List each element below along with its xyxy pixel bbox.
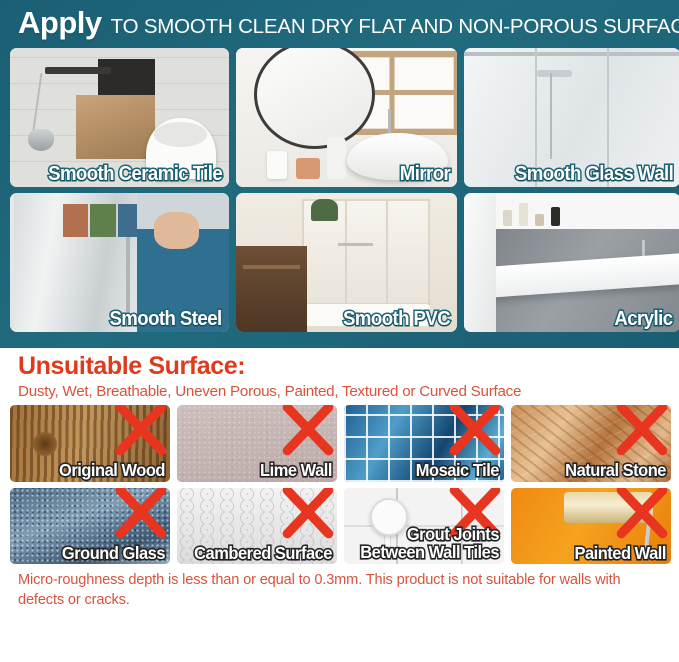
unsuitable-card-lime-wall: Lime Wall	[177, 405, 337, 482]
unsuitable-card-label: Lime Wall	[191, 462, 332, 480]
unsuitable-card-painted-wall: Painted Wall	[511, 488, 671, 565]
unsuitable-card-natural-stone: Natural Stone	[511, 405, 671, 482]
unsuitable-card-mosaic-tile: Mosaic Tile	[344, 405, 504, 482]
apply-card-label: Smooth Steel	[110, 309, 222, 329]
apply-card-smooth-pvc: Smooth PVC	[236, 193, 457, 332]
apply-card-mirror: Mirror	[236, 48, 457, 187]
unsuitable-section-title: Unsuitable Surface:	[18, 354, 245, 379]
unsuitable-card-cambered-surface: Cambered Surface	[177, 488, 337, 565]
unsuitable-card-grout-joints: Grout Joints Between Wall Tiles	[344, 488, 504, 565]
apply-card-label: Smooth Glass Wall	[515, 164, 673, 184]
unsuitable-card-label: Cambered Surface	[191, 545, 332, 563]
apply-card-smooth-ceramic-tile: Smooth Ceramic Tile	[10, 48, 229, 187]
unsuitable-card-label: Painted Wall	[525, 545, 666, 563]
faucet-shape	[338, 243, 373, 246]
unsuitable-surfaces-section: Unsuitable Surface: Dusty, Wet, Breathab…	[0, 348, 679, 662]
unsuitable-card-label: Natural Stone	[525, 462, 666, 480]
paint-roller-shape	[564, 492, 654, 523]
plant-shape	[311, 199, 338, 221]
apply-surfaces-section: Apply TO SMOOTH CLEAN DRY FLAT AND NON-P…	[0, 0, 679, 348]
decor-items-shape	[503, 199, 654, 227]
shower-head-shape	[28, 129, 54, 151]
bottle-shape	[327, 137, 347, 179]
wood-corner-shape	[76, 95, 155, 159]
unsuitable-card-ground-glass: Ground Glass	[10, 488, 170, 565]
footer-note: Micro-roughness depth is less than or eq…	[18, 570, 663, 610]
unsuitable-card-label: Original Wood	[24, 462, 165, 480]
cup-shape	[267, 151, 287, 179]
unsuitable-card-label-line2: Between Wall Tiles	[360, 542, 499, 562]
product-infographic: Apply TO SMOOTH CLEAN DRY FLAT AND NON-P…	[0, 0, 679, 662]
apply-card-smooth-glass-wall: Smooth Glass Wall	[464, 48, 679, 187]
apply-card-label: Smooth Ceramic Tile	[48, 164, 222, 184]
unsuitable-card-label: Ground Glass	[24, 545, 165, 563]
shower-head-shape	[537, 70, 572, 77]
unsuitable-surface-grid: Original Wood Lime Wall Mosaic Tile	[10, 405, 671, 564]
round-mirror-shape	[254, 48, 375, 149]
apply-section-title: Apply TO SMOOTH CLEAN DRY FLAT AND NON-P…	[18, 7, 679, 41]
vanity-cabinet-shape	[236, 246, 307, 332]
shower-bar-shape	[550, 73, 552, 159]
apply-surface-grid: Smooth Ceramic Tile Mirror	[10, 48, 670, 338]
apply-card-label: Smooth PVC	[343, 309, 450, 329]
frame-top-shape	[464, 52, 679, 56]
pot-shape	[296, 158, 320, 179]
apply-card-label: Acrylic	[615, 309, 673, 329]
unsuitable-card-label: Mosaic Tile	[358, 462, 499, 480]
unsuitable-card-original-wood: Original Wood	[10, 405, 170, 482]
apply-title-emphasis: Apply	[18, 7, 102, 38]
shelf-shape	[45, 67, 111, 74]
apply-card-label: Mirror	[400, 164, 450, 184]
unsuitable-section-subtitle: Dusty, Wet, Breathable, Uneven Porous, P…	[18, 384, 521, 399]
unsuitable-card-label: Grout Joints Between Wall Tiles	[358, 526, 499, 562]
apply-title-rest: TO SMOOTH CLEAN DRY FLAT AND NON-POROUS …	[111, 17, 679, 38]
white-column-shape	[464, 193, 496, 332]
shower-hose-shape	[32, 73, 43, 137]
apply-card-smooth-steel: Smooth Steel	[10, 193, 229, 332]
apply-card-acrylic: Acrylic	[464, 193, 679, 332]
